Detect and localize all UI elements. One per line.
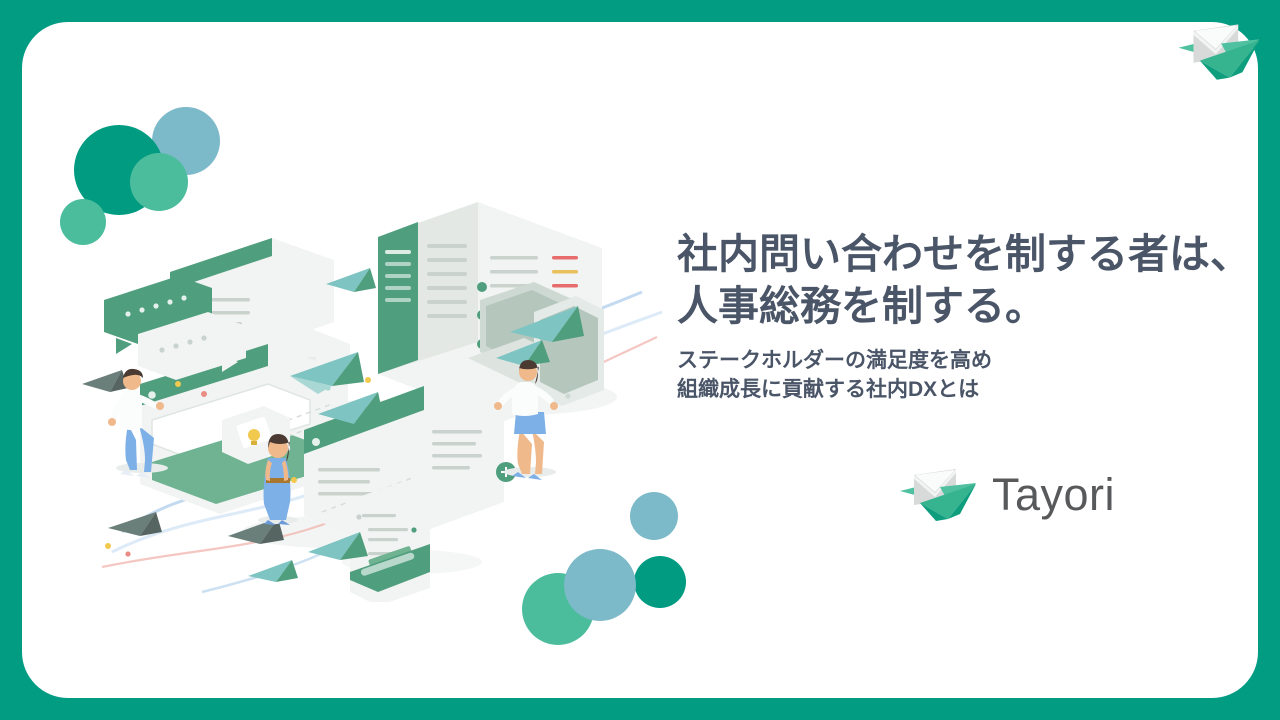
slide-white-card: .sh { fill:#e8ecea; } .pl { fill:#f2f4f3…: [22, 22, 1258, 698]
tayori-envelope-plane-logo: [898, 463, 978, 525]
slide-root: .sh { fill:#e8ecea; } .pl { fill:#f2f4f3…: [0, 0, 1280, 720]
headline-block: 社内問い合わせを制する者は、 人事総務を制する。 ステークホルダーの満足度を高め…: [677, 228, 1257, 404]
tayori-wordmark: Tayori: [992, 472, 1115, 517]
isometric-internal-inquiry-dx-illustration: .sh { fill:#e8ecea; } .pl { fill:#f2f4f3…: [82, 172, 682, 602]
tayori-brand-lockup: Tayori: [898, 463, 1115, 525]
tayori-envelope-plane-mark: [1176, 18, 1262, 84]
page-subtitle: ステークホルダーの満足度を高め 組織成長に貢献する社内DXとは: [677, 346, 1257, 404]
page-title: 社内問い合わせを制する者は、 人事総務を制する。: [677, 228, 1257, 332]
